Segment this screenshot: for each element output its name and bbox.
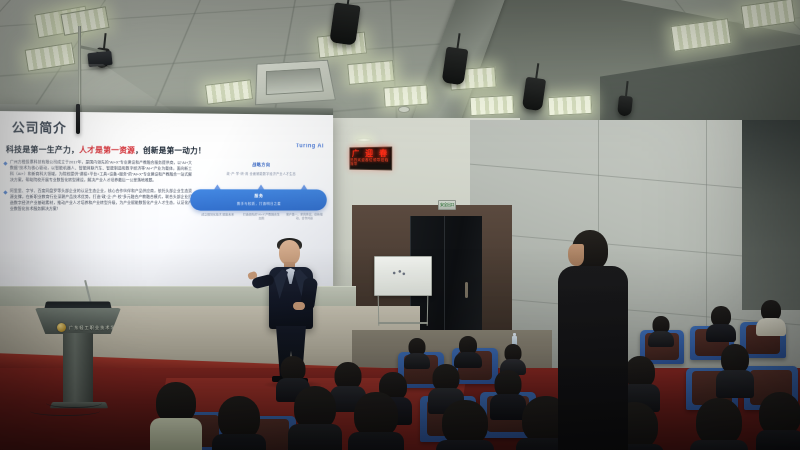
audience-member: [404, 338, 430, 364]
slide-title: 公司简介: [12, 117, 326, 139]
slide-strategy-diagram: 战略方向 政·产·学·研·用 全面赋能数字经济产业人才生态 使命 成立数智化技术…: [196, 160, 326, 221]
air-conditioner-vent: [255, 60, 336, 105]
audience-torso: [756, 430, 800, 450]
podium-label: 广东轻工职业技术学院: [69, 325, 121, 331]
audience-torso: [212, 434, 266, 450]
diagram-column-desc: 成立数智化技术 赋能未来: [196, 212, 240, 217]
headline-part-2: ，创新是第一动力！: [135, 146, 206, 155]
audience-member: [212, 396, 266, 450]
audience-member: [500, 344, 526, 370]
audience-torso: [404, 353, 430, 369]
podium-front-panel: 广东轻工职业技术学院: [35, 308, 121, 334]
audience-torso: [288, 424, 342, 450]
ceiling-panel-light: [347, 60, 395, 85]
ceiling-panel-light: [470, 95, 515, 116]
podium-column: [63, 333, 93, 405]
lecture-hall-photo: 安全出口 广 迎 春 热烈欢迎各位领导莅临指导 公司简介 科技是第一生产力，人才…: [0, 0, 800, 450]
whiteboard-surface: [374, 256, 432, 296]
audience-member: [436, 400, 494, 450]
audience-member: [706, 306, 736, 338]
cta-subtitle: 携手与校跃，打造明日之星: [237, 201, 281, 206]
diagram-cta-banner: 服务 携手与校跃，打造明日之星: [190, 189, 327, 210]
slide-bullet-column: 广州方橙投票科技有限公司成立于2017年，是国内领先的“AI+X”专业建设和产教…: [4, 159, 192, 222]
bullet-marker-icon: [3, 161, 7, 165]
cta-title: 服务: [254, 193, 263, 199]
smoke-detector: [398, 106, 410, 113]
slide-bullet: 阿里里、字节、百度同盘罗等头部企业的认证生态企业，核心合作伙伴和产品供应商，依托…: [4, 188, 192, 212]
presenter-hand-right: [293, 302, 305, 310]
audience-member: [150, 382, 202, 450]
headline-part-1: 科技是第一生产力，: [6, 145, 79, 154]
audience-member: [756, 392, 800, 450]
bullet-text: 阿里里、字节、百度同盘罗等头部企业的认证生态企业，核心合作伙伴和产品供应商，依托…: [10, 188, 192, 212]
wall-lamp: [356, 138, 372, 142]
diagram-title: 战略方向: [196, 162, 326, 168]
audience-torso: [690, 440, 748, 450]
standing-person-face: [568, 244, 584, 266]
audience-torso: [150, 418, 202, 450]
headline-highlight: 人才是第一资源: [79, 146, 135, 155]
audience-member: [690, 398, 748, 450]
audience-member: [648, 316, 674, 342]
exit-sign: 安全出口: [438, 200, 456, 210]
right-wall-dark-corner: [742, 120, 800, 310]
door-handle[interactable]: [465, 282, 468, 298]
diagram-subtitle: 政·产·学·研·用 全面赋能数字经济产业人才生态: [196, 171, 326, 176]
standing-audience-member: [556, 230, 632, 450]
audience-torso: [756, 318, 786, 336]
standing-person-jacket: [558, 266, 628, 450]
turing-ai-logo: Turing AI: [296, 143, 324, 149]
exit-sign-label: 安全出口: [440, 202, 454, 208]
whiteboard-crossbar: [378, 322, 428, 324]
bullet-text: 广州方橙投票科技有限公司成立于2017年，是国内领先的“AI+X”专业建设和产教…: [10, 159, 192, 184]
audience-torso: [716, 370, 754, 398]
hanging-spotlight: [329, 2, 360, 45]
hanging-microphone: [76, 104, 80, 134]
slide-body: 广州方橙投票科技有限公司成立于2017年，是国内领先的“AI+X”专业建设和产教…: [4, 159, 326, 222]
diagram-column-desc: 打造领先的“AI+X”产教融合生态圈: [240, 212, 283, 221]
bullet-marker-icon: [3, 191, 7, 195]
audience-head: [696, 398, 742, 446]
school-emblem-icon: [57, 323, 66, 332]
audience-torso: [436, 440, 494, 450]
audience-member: [716, 344, 754, 392]
led-scrolling-sign: 广 迎 春 热烈欢迎各位领导莅临指导: [349, 147, 392, 171]
floor-cable: [30, 406, 100, 416]
diagram-column-desc: 客户第一、求真务实、创新驱动、合作共赢: [283, 212, 326, 221]
audience-torso: [648, 331, 674, 347]
audience-member: [348, 392, 404, 450]
slide-headline: 科技是第一生产力，人才是第一资源，创新是第一动力！: [6, 144, 326, 157]
audience-member: [454, 336, 482, 364]
ceiling-panel-light: [383, 84, 428, 107]
audience-torso: [348, 432, 404, 450]
podium: 广东轻工职业技术学院: [35, 300, 121, 412]
led-sign-sub-text: 热烈欢迎各位领导莅临指导: [350, 159, 391, 167]
audience-member: [288, 386, 342, 450]
slide-bullet: 广州方橙投票科技有限公司成立于2017年，是国内领先的“AI+X”专业建设和产教…: [4, 159, 192, 184]
ceiling-panel-light: [548, 95, 593, 116]
audience-torso: [706, 324, 736, 342]
whiteboard-writing: [391, 269, 407, 277]
whiteboard: [374, 256, 432, 326]
audience-member: [756, 300, 786, 332]
projector: [87, 51, 112, 67]
